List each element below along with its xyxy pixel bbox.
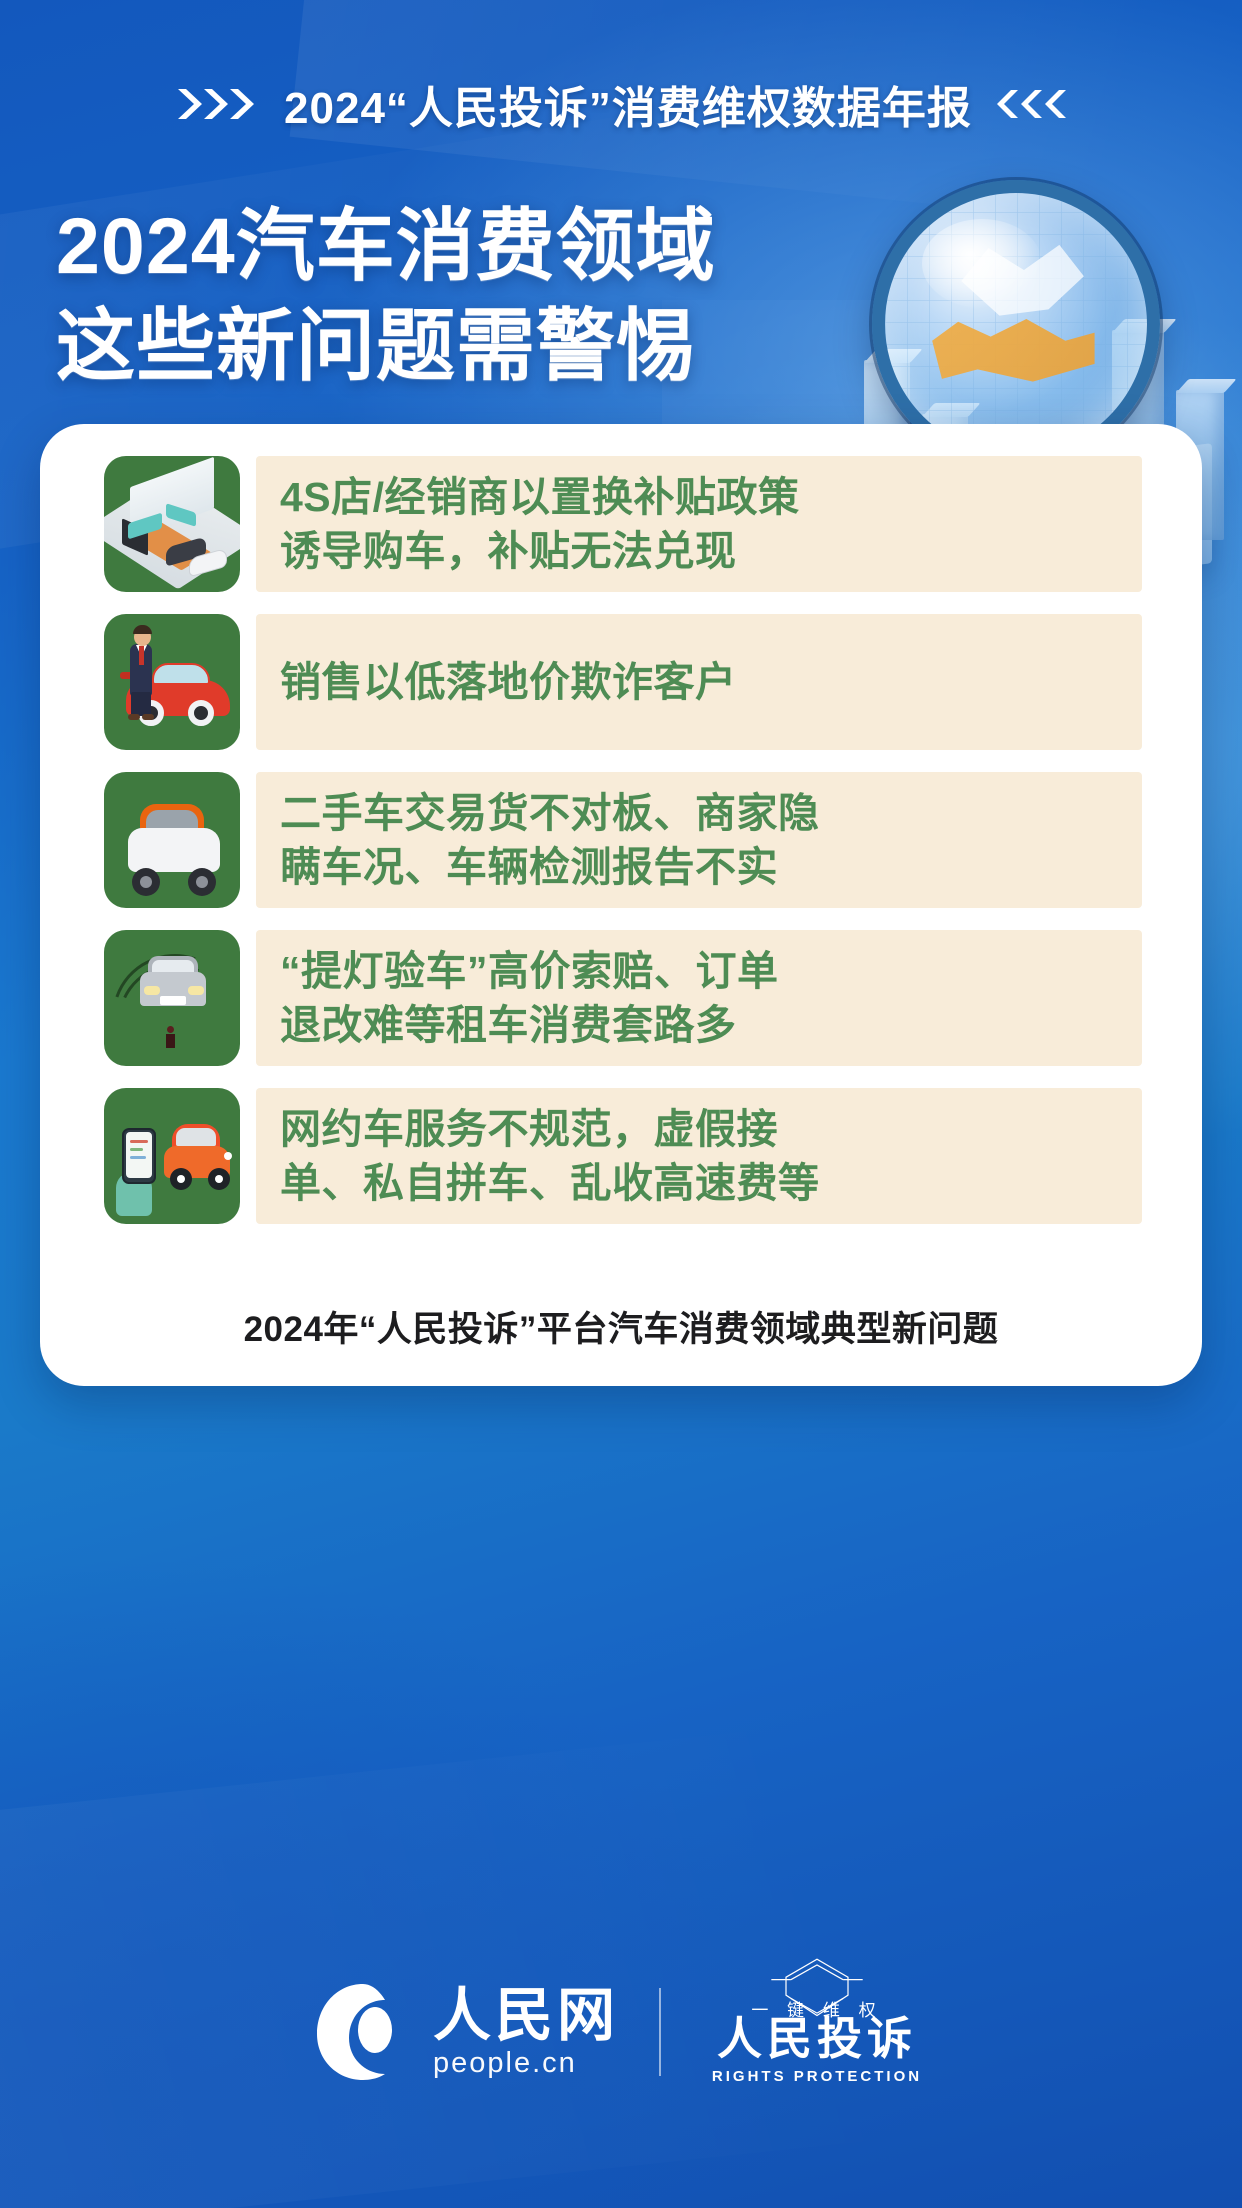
globe-landmass-orange [932, 314, 1094, 382]
list-item-line1: 二手车交易货不对板、商家隐 [280, 786, 820, 840]
footer-divider [659, 1988, 661, 2076]
card-caption: 2024年“人民投诉”平台汽车消费领域典型新问题 [40, 1301, 1202, 1352]
list-item-text: 4S店/经销商以置换补贴政策 诱导购车，补贴无法兑现 [256, 456, 1142, 592]
people-cn-mark [309, 1978, 417, 2086]
issue-list: 4S店/经销商以置换补贴政策 诱导购车，补贴无法兑现 [104, 456, 1142, 1224]
footer: 人民网 people.cn 一 键 维 权 人民投诉 RIGHTS PROTEC… [0, 1952, 1242, 2112]
list-item-line2: 诱导购车，补贴无法兑现 [280, 524, 800, 578]
header-title: 2024“人民投诉”消费维权数据年报 [284, 72, 972, 136]
list-item[interactable]: “提灯验车”高价索赔、订单 退改难等租车消费套路多 [104, 930, 1142, 1066]
list-item-text: 销售以低落地价欺诈客户 [256, 614, 1142, 750]
hero-title: 2024汽车消费领域 这些新问题需警惕 [56, 196, 756, 395]
list-item-text: 网约车服务不规范，虚假接 单、私自拼车、乱收高速费等 [256, 1088, 1142, 1224]
shield-english-text: RIGHTS PROTECTION [701, 2068, 933, 2085]
list-item-line1: 网约车服务不规范，虚假接 [280, 1102, 820, 1156]
background-ribbon-3 [0, 1666, 1242, 2208]
list-item-line1: “提灯验车”高价索赔、订单 [280, 944, 779, 998]
list-item-line2: 单、私自拼车、乱收高速费等 [280, 1156, 820, 1210]
chevrons-left-icon [994, 89, 1066, 119]
people-cn-wordmark: 人民网 people.cn [433, 1987, 619, 2078]
poster-root: 2024“人民投诉”消费维权数据年报 2024汽车消费领 [0, 0, 1242, 2208]
list-item-line2: 退改难等租车消费套路多 [280, 998, 779, 1052]
ride-hailing-phone-car-icon [104, 1088, 240, 1224]
list-item[interactable]: 4S店/经销商以置换补贴政策 诱导购车，补贴无法兑现 [104, 456, 1142, 592]
hero-title-line1: 2024汽车消费领域 [56, 196, 756, 296]
globe-grid [885, 193, 1147, 455]
hero-title-line2: 这些新问题需警惕 [56, 296, 756, 396]
chevrons-right-icon [176, 87, 262, 121]
shield-badge-icon: 一 键 维 权 人民投诉 RIGHTS PROTECTION [701, 1956, 933, 2108]
car-showroom-icon [104, 456, 240, 592]
list-item[interactable]: 网约车服务不规范，虚假接 单、私自拼车、乱收高速费等 [104, 1088, 1142, 1224]
people-cn-chinese: 人民网 [433, 1987, 619, 2045]
list-item-line1: 4S店/经销商以置换补贴政策 [280, 470, 800, 524]
people-cn-english: people.cn [433, 2049, 577, 2078]
list-item-line1: 销售以低落地价欺诈客户 [280, 655, 737, 709]
salesman-red-car-icon [104, 614, 240, 750]
list-item[interactable]: 销售以低落地价欺诈客户 [104, 614, 1142, 750]
list-item-text: “提灯验车”高价索赔、订单 退改难等租车消费套路多 [256, 930, 1142, 1066]
globe-landmass-light [953, 240, 1089, 319]
content-card: 4S店/经销商以置换补贴政策 诱导购车，补贴无法兑现 [40, 424, 1202, 1386]
car-headlight-inspection-icon [104, 930, 240, 1066]
used-city-car-icon [104, 772, 240, 908]
lens-highlight [922, 219, 1043, 308]
people-cn-logo-icon: 人民网 people.cn [309, 1978, 619, 2086]
list-item[interactable]: 二手车交易货不对板、商家隐 瞒车况、车辆检测报告不实 [104, 772, 1142, 908]
header-banner: 2024“人民投诉”消费维权数据年报 [0, 64, 1242, 144]
list-item-line2: 瞒车况、车辆检测报告不实 [280, 840, 820, 894]
list-item-text: 二手车交易货不对板、商家隐 瞒车况、车辆检测报告不实 [256, 772, 1142, 908]
shield-main-text: 人民投诉 [701, 2014, 933, 2064]
